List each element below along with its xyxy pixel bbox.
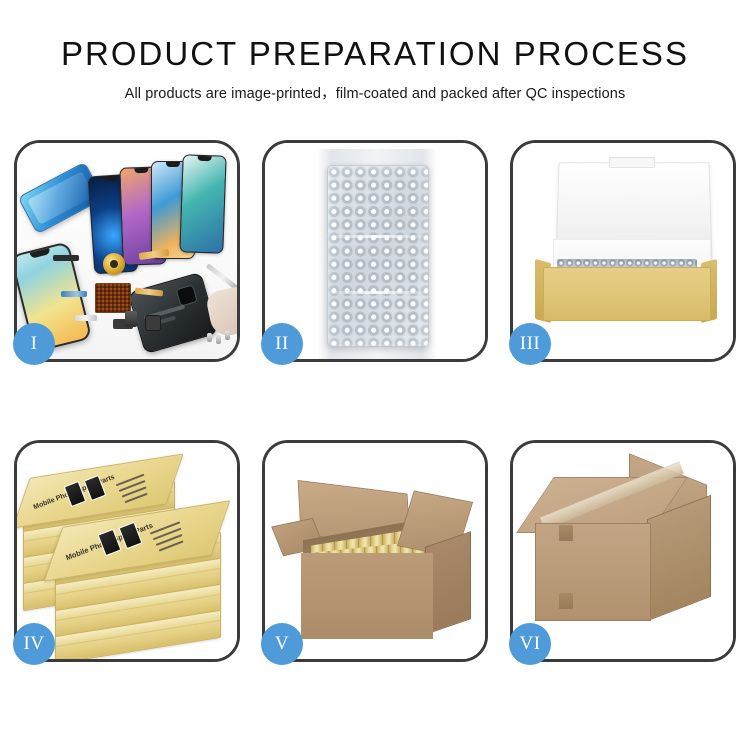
- inner-box-scene: [513, 143, 733, 359]
- copper-mesh-part: [95, 283, 131, 313]
- flex-cable-3: [61, 291, 87, 297]
- step-badge-2: II: [261, 323, 303, 365]
- screw-3: [225, 331, 230, 340]
- carton-front-face: [301, 553, 433, 639]
- stacked-boxes-scene: Mobile Phone Spare Parts Mobile Phone Sp…: [17, 443, 237, 659]
- step-badge-3: III: [509, 323, 551, 365]
- product-preparation-infographic: PRODUCT PREPARATION PROCESS All products…: [0, 0, 750, 750]
- bubble-wrap-seam-2: [327, 291, 427, 294]
- step-panel-5: V: [262, 440, 488, 662]
- step-panel-2: II: [262, 140, 488, 362]
- step-1-image: [17, 143, 237, 359]
- box-stack: Mobile Phone Spare Parts Mobile Phone Sp…: [19, 449, 237, 659]
- header: PRODUCT PREPARATION PROCESS All products…: [0, 34, 750, 104]
- speaker-part: [53, 255, 79, 261]
- screw-2: [216, 335, 221, 344]
- screw-1: [207, 333, 212, 342]
- sealed-carton-front: [535, 523, 651, 621]
- step-badge-4: IV: [13, 623, 55, 665]
- phone-screen-fan: [77, 157, 237, 262]
- step-panel-3: III: [510, 140, 736, 362]
- page-subtitle: All products are image-printed，film-coat…: [0, 84, 750, 104]
- bubble-wrap-seam-1: [327, 235, 427, 238]
- step-5-image: [265, 443, 485, 659]
- process-step-grid: I II: [14, 140, 736, 680]
- camera-ring-part: [145, 315, 161, 331]
- camera-module: [176, 284, 198, 306]
- sealed-carton-scene: [513, 443, 733, 659]
- carton-hand-hole-2: [559, 593, 573, 609]
- step-4-image: Mobile Phone Spare Parts Mobile Phone Sp…: [17, 443, 237, 659]
- phone-back-housing: [128, 272, 219, 354]
- step-panel-4: Mobile Phone Spare Parts Mobile Phone Sp…: [14, 440, 240, 662]
- flex-cable-4: [75, 315, 97, 321]
- phone-screen-4: [179, 154, 226, 253]
- step-panel-1: I: [14, 140, 240, 362]
- kraft-inner-box: [543, 267, 711, 321]
- step-3-image: [513, 143, 733, 359]
- lid-tab: [609, 157, 655, 168]
- bubble-wrapped-product: [327, 165, 429, 347]
- phones-parts-scene: [17, 143, 237, 359]
- gold-coil-part: [103, 253, 125, 275]
- step-2-image: [265, 143, 485, 359]
- battery-part: [125, 311, 137, 327]
- page-title: PRODUCT PREPARATION PROCESS: [0, 34, 750, 74]
- bubble-wrap-scene: [265, 143, 485, 359]
- step-badge-6: VI: [509, 623, 551, 665]
- carton-hand-hole-1: [559, 525, 573, 541]
- carton-filling-scene: [265, 443, 485, 659]
- step-badge-5: V: [261, 623, 303, 665]
- step-badge-1: I: [13, 323, 55, 365]
- step-6-image: [513, 443, 733, 659]
- step-panel-6: VI: [510, 440, 736, 662]
